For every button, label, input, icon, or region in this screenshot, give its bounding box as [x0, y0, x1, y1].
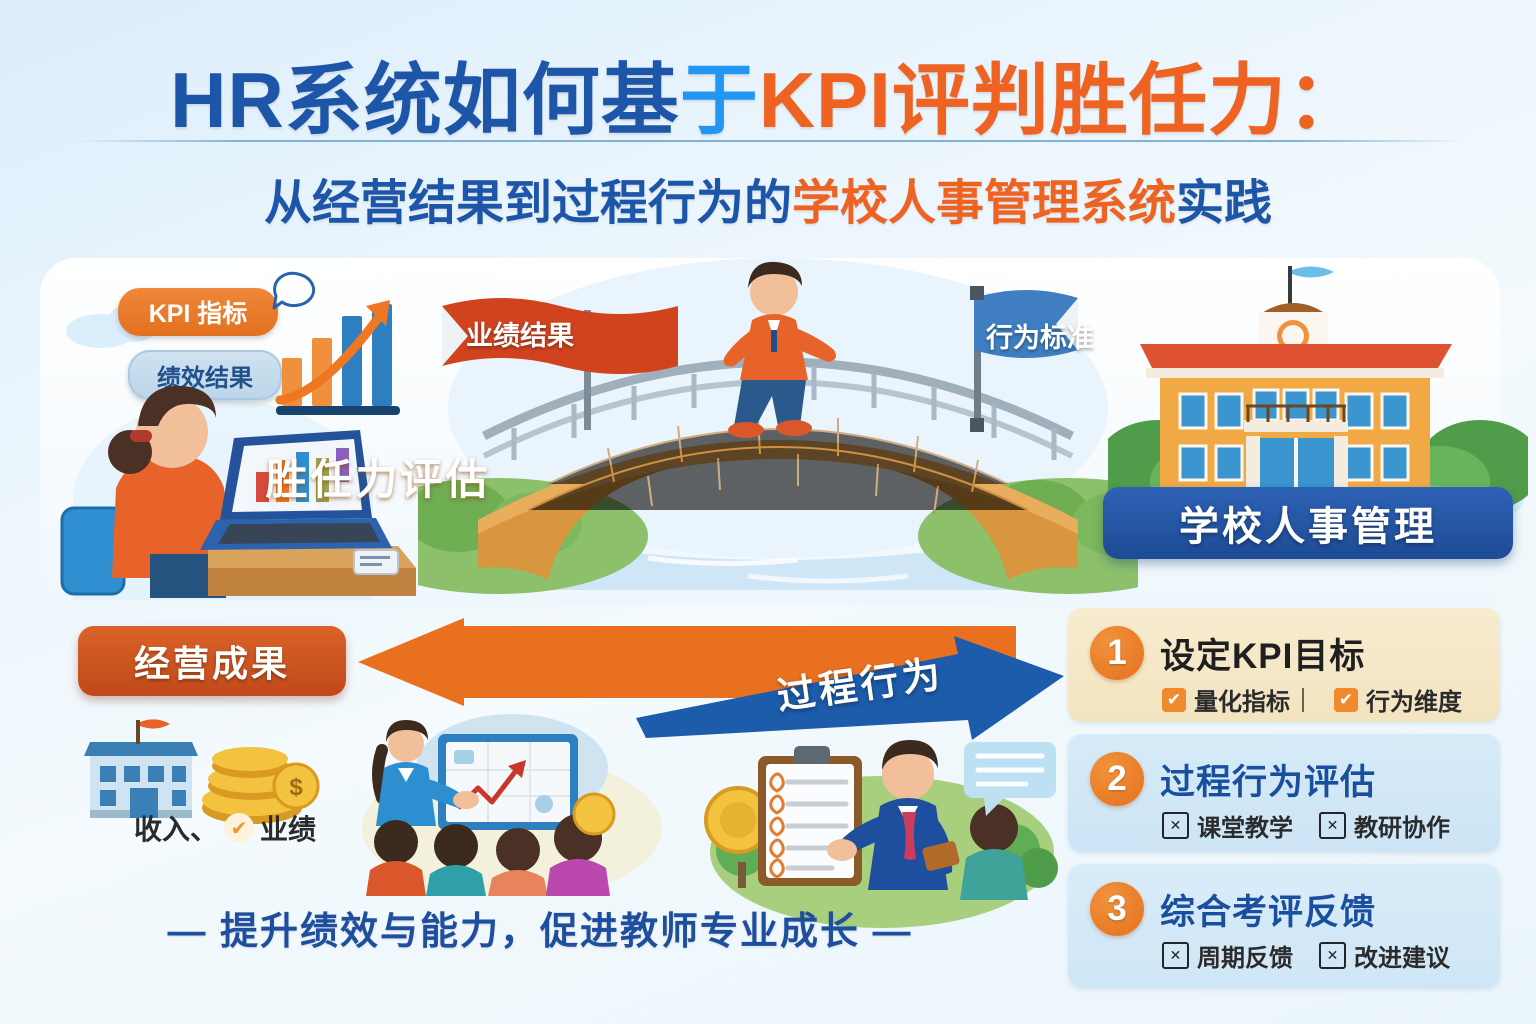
footer-tagline: — 提升绩效与能力，促进教师专业成长 — — [60, 900, 1020, 955]
step-title-3: 综合考评反馈 — [1160, 884, 1376, 935]
checkbox-outline-icon[interactable]: ✕ — [1319, 812, 1346, 839]
step-subitem: ✕ 改进建议 — [1319, 938, 1450, 973]
step-subitems-3: ✕ 周期反馈 ✕ 改进建议 — [1162, 938, 1450, 973]
step-number-1: 1 — [1090, 626, 1144, 680]
step-subitem-label: 教研协作 — [1354, 808, 1450, 843]
divider — [1302, 688, 1304, 712]
check-round-icon: ✔ — [224, 813, 254, 843]
step-number-3: 3 — [1090, 882, 1144, 936]
title-part-2: 于 — [680, 56, 759, 144]
subtitle-part-2: 学校人事管理系统 — [792, 177, 1176, 230]
flag-label-right: 行为标准 — [986, 316, 1094, 355]
header: HR系统如何基于KPI评判胜任力： 从经营结果到过程行为的学校人事管理系统实践 — [0, 0, 1536, 250]
step-subitem: ✕ 周期反馈 — [1162, 938, 1293, 973]
income-caption: 收入、 ✔ 业绩 — [110, 808, 340, 848]
school-hr-pill: 学校人事管理 — [1103, 487, 1513, 559]
step-card-1[interactable]: 1 设定KPI目标 ✔ 量化指标 ✔ 行为维度 — [1068, 608, 1500, 722]
svg-text:$: $ — [289, 774, 303, 801]
step-subitem-label: 课堂教学 — [1197, 808, 1293, 843]
badge-kpi: KPI 指标 — [118, 288, 278, 336]
step-title-1: 设定KPI目标 — [1160, 628, 1365, 679]
step-card-3[interactable]: 3 综合考评反馈 ✕ 周期反馈 ✕ 改进建议 — [1068, 864, 1500, 988]
page-subtitle: 从经营结果到过程行为的学校人事管理系统实践 — [0, 163, 1536, 233]
scene-illustration: KPI 指标 绩效结果 — [18, 250, 1518, 610]
step-cards: 1 设定KPI目标 ✔ 量化指标 ✔ 行为维度 2 过程行为评估 ✕ — [1068, 608, 1514, 1006]
step-subitem-label: 行为维度 — [1366, 682, 1462, 717]
income-caption-right: 业绩 — [260, 808, 316, 848]
step-card-2[interactable]: 2 过程行为评估 ✕ 课堂教学 ✕ 教研协作 — [1068, 734, 1500, 852]
step-subitem-label: 周期反馈 — [1197, 938, 1293, 973]
checkbox-outline-icon[interactable]: ✕ — [1319, 942, 1346, 969]
title-part-1: HR系统如何基 — [170, 56, 680, 144]
step-subitem: ✔ 行为维度 — [1334, 682, 1462, 717]
page-title: HR系统如何基于KPI评判胜任力： — [0, 38, 1536, 150]
bridge-illustration — [418, 258, 1138, 608]
subtitle-part-3: 实践 — [1176, 177, 1272, 230]
step-subitem: ✕ 教研协作 — [1319, 808, 1450, 843]
checkbox-outline-icon[interactable]: ✕ — [1162, 812, 1189, 839]
step-subitem-label: 改进建议 — [1354, 938, 1450, 973]
step-subitem: ✔ 量化指标 — [1162, 682, 1308, 717]
step-subitems-2: ✕ 课堂教学 ✕ 教研协作 — [1162, 808, 1450, 843]
step-title-2: 过程行为评估 — [1160, 754, 1376, 805]
subtitle-part-1: 从经营结果到过程行为的 — [264, 177, 792, 230]
step-subitem: ✕ 课堂教学 — [1162, 808, 1293, 843]
classroom-training-illustration — [352, 708, 672, 896]
checkbox-checked-icon[interactable]: ✔ — [1162, 688, 1186, 712]
income-caption-left: 收入、 — [134, 808, 218, 848]
step-number-2: 2 — [1090, 752, 1144, 806]
title-divider — [74, 140, 1462, 142]
bridge-label: 胜任力评估 — [18, 446, 738, 507]
flag-label-left: 业绩结果 — [466, 314, 574, 353]
step-subitems-1: ✔ 量化指标 ✔ 行为维度 — [1162, 682, 1462, 717]
checkbox-checked-icon[interactable]: ✔ — [1334, 688, 1358, 712]
checkbox-outline-icon[interactable]: ✕ — [1162, 942, 1189, 969]
infographic-canvas: HR系统如何基于KPI评判胜任力： 从经营结果到过程行为的学校人事管理系统实践 … — [0, 0, 1536, 1024]
business-result-pill: 经营成果 — [78, 626, 346, 696]
title-part-3: KPI评判胜任力： — [759, 56, 1366, 144]
step-subitem-label: 量化指标 — [1194, 682, 1290, 717]
